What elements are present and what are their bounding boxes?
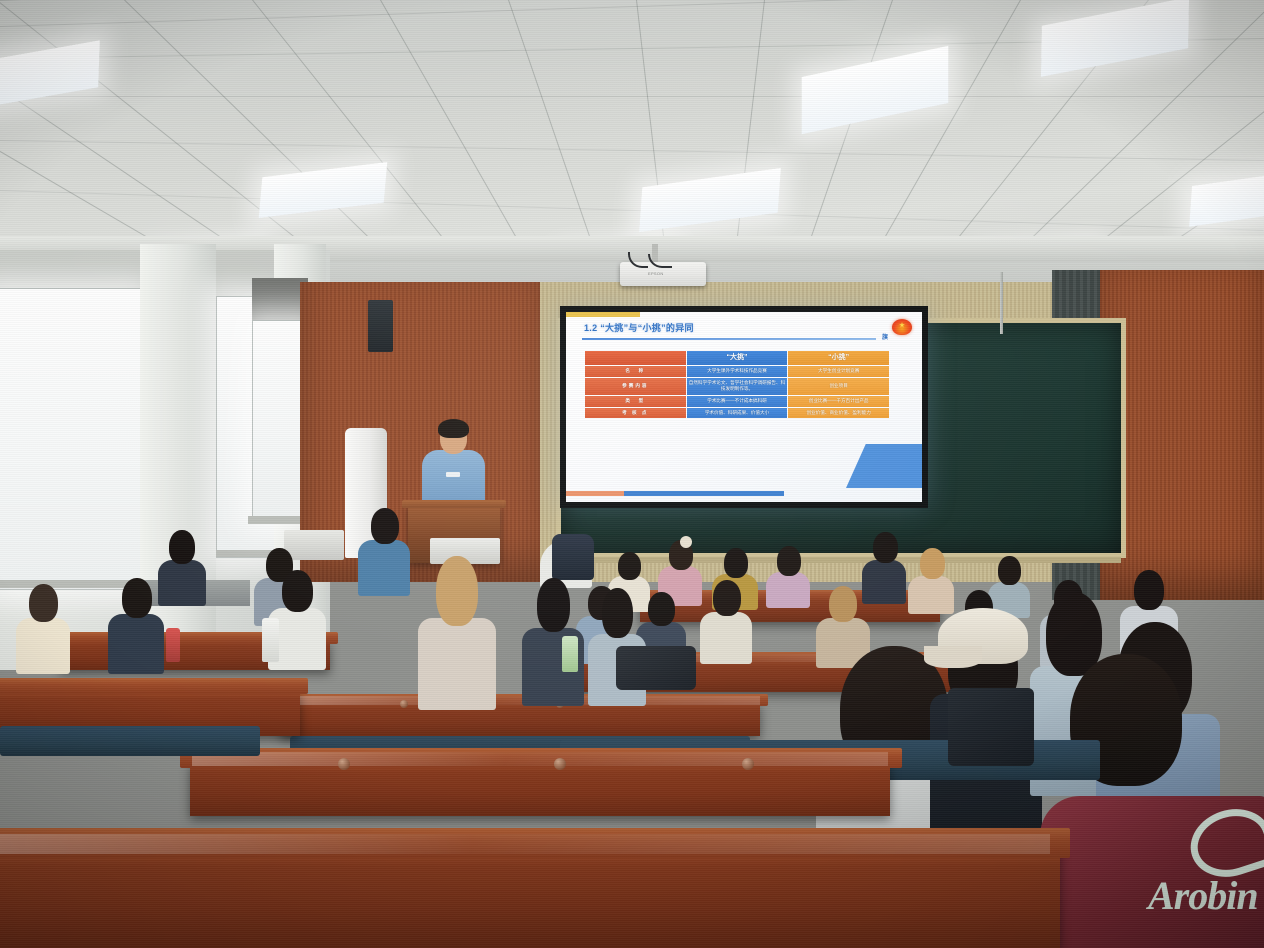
slide-title-underline bbox=[582, 338, 876, 340]
youth-league-emblem-icon bbox=[892, 319, 912, 335]
slide-comparison-table: “大挑” “小挑” 名 称 大学生课外学术科技作品竞赛 大学生创业计划竞赛 参赛… bbox=[584, 350, 890, 419]
student bbox=[908, 548, 954, 608]
student bbox=[358, 508, 410, 592]
projection-screen: 1.2 “大挑”与“小挑”的异同 旗 “大挑” “小挑” 名 称 大学生课外学术… bbox=[560, 306, 928, 508]
table-row: 考 核 点 学术价值、科研成果、价值大小 创业价值、商业价值、盈利能力 bbox=[585, 408, 889, 419]
ceiling-light-panel bbox=[802, 46, 949, 134]
student-hair-tie bbox=[680, 536, 692, 548]
slide-title: 1.2 “大挑”与“小挑”的异同 bbox=[584, 321, 694, 334]
student-torso bbox=[358, 540, 410, 596]
ceiling-light-panel bbox=[639, 168, 781, 232]
row-small-2: 创业比赛——千方百计出产品 bbox=[788, 396, 889, 407]
ceiling-light-panel bbox=[0, 40, 100, 110]
water-bottle-red bbox=[166, 628, 180, 662]
table-row: 类 型 学术比赛——不计成本搞科研 创业比赛——千方百计出产品 bbox=[585, 396, 889, 407]
student bbox=[108, 578, 164, 670]
row-big-0: 大学生课外学术科技作品竞赛 bbox=[687, 366, 788, 377]
desk-knob bbox=[554, 758, 566, 770]
student-torso bbox=[700, 612, 752, 664]
row-small-0: 大学生创业计划竞赛 bbox=[788, 366, 889, 377]
student bbox=[766, 546, 810, 604]
desk-row-5 bbox=[0, 848, 1060, 948]
ceiling-tile-line bbox=[0, 0, 1263, 1]
presenter-chest-logo bbox=[446, 472, 460, 477]
slide-logo-mark: 旗 bbox=[882, 332, 888, 341]
water-bottle-green bbox=[562, 636, 578, 672]
bench-left-row-2 bbox=[0, 726, 260, 756]
presentation-slide: 1.2 “大挑”与“小挑”的异同 旗 “大挑” “小挑” 名 称 大学生课外学术… bbox=[566, 312, 922, 502]
student-torso bbox=[418, 618, 496, 710]
water-bottle-white bbox=[262, 618, 279, 662]
desk-top-row-5 bbox=[0, 828, 1070, 858]
student-head bbox=[282, 570, 313, 612]
row-label-3: 考 核 点 bbox=[585, 408, 686, 419]
row-label-1: 参赛内容 bbox=[585, 378, 686, 395]
ceiling-tile-line bbox=[0, 140, 1264, 161]
ceiling-tile-line bbox=[0, 96, 1264, 97]
student-head bbox=[436, 556, 478, 626]
row-small-3: 创业价值、商业价值、盈利能力 bbox=[788, 408, 889, 419]
student-head bbox=[777, 546, 801, 576]
window-1 bbox=[0, 288, 142, 590]
student-head bbox=[29, 584, 58, 622]
ceiling-light-panel bbox=[259, 162, 388, 218]
draped-jacket bbox=[552, 534, 594, 580]
student-head bbox=[537, 578, 570, 632]
ceiling-light-panel bbox=[1189, 169, 1264, 226]
student-head bbox=[648, 592, 675, 626]
student-head bbox=[602, 588, 633, 638]
student-torso bbox=[108, 614, 164, 674]
presenter-hair bbox=[438, 419, 469, 438]
student-head bbox=[1134, 570, 1164, 610]
student-torso bbox=[158, 560, 206, 606]
maroon-jacket-text: Arobin bbox=[1148, 872, 1258, 919]
desk-row-3 bbox=[280, 702, 760, 736]
header-cell-blank bbox=[585, 351, 686, 365]
row-big-2: 学术比赛——不计成本搞科研 bbox=[687, 396, 788, 407]
row-label-2: 类 型 bbox=[585, 396, 686, 407]
student-head bbox=[829, 586, 857, 622]
table-row: 参赛内容 自然科学学术论文、哲学社会科学调研报告、科技发明制作等。 创业项目 bbox=[585, 378, 889, 395]
student-torso bbox=[766, 572, 810, 608]
backpack bbox=[616, 646, 696, 690]
table-header-row: “大挑” “小挑” bbox=[585, 351, 889, 365]
slide-top-accent-bar bbox=[566, 312, 640, 317]
row-small-1: 创业项目 bbox=[788, 378, 889, 395]
header-cell-small: “小挑” bbox=[788, 351, 889, 365]
desk-knob bbox=[400, 700, 408, 708]
student-head bbox=[998, 556, 1021, 585]
student-head bbox=[724, 548, 748, 578]
row-big-3: 学术价值、科研成果、价值大小 bbox=[687, 408, 788, 419]
projector-brand-label: EPSON bbox=[648, 271, 664, 276]
student bbox=[418, 556, 496, 706]
student-head bbox=[920, 548, 945, 579]
student-head bbox=[371, 508, 399, 544]
ceiling-light-panel bbox=[1041, 0, 1189, 77]
desk-row-4 bbox=[190, 762, 890, 816]
window-blind-1 bbox=[0, 250, 140, 290]
slide-corner-shape bbox=[846, 444, 922, 488]
table-row: 名 称 大学生课外学术科技作品竞赛 大学生创业计划竞赛 bbox=[585, 366, 889, 377]
desk-top-left-row-2 bbox=[0, 678, 308, 694]
student-torso bbox=[16, 618, 70, 674]
lecture-hall-photo: EPSON 1.2 “大挑”与“小挑”的异同 旗 “大挑” “小挑” 名 称 大… bbox=[0, 0, 1264, 948]
header-cell-big: “大挑” bbox=[687, 351, 788, 365]
slide-footer-accent-orange bbox=[566, 491, 624, 496]
student-head bbox=[618, 552, 641, 580]
wall-speaker bbox=[368, 300, 393, 352]
student-head bbox=[122, 578, 152, 618]
row-big-1: 自然科学学术论文、哲学社会科学调研报告、科技发明制作等。 bbox=[687, 378, 788, 395]
student-head bbox=[169, 530, 195, 564]
desk-knob bbox=[338, 758, 350, 770]
student bbox=[700, 580, 752, 660]
cap-brim bbox=[924, 646, 982, 668]
podium-top-surface bbox=[402, 500, 506, 508]
student bbox=[16, 584, 70, 670]
desk-top-row-4 bbox=[180, 748, 902, 768]
backpack bbox=[948, 688, 1034, 766]
student bbox=[158, 530, 206, 602]
student-head bbox=[713, 580, 741, 616]
slide-footer-accent-blue bbox=[624, 491, 784, 496]
student-torso bbox=[908, 576, 954, 614]
row-label-0: 名 称 bbox=[585, 366, 686, 377]
desk-top-row-3 bbox=[274, 694, 768, 706]
microphone-stand bbox=[1000, 272, 1003, 334]
desk-knob bbox=[742, 758, 754, 770]
student-head bbox=[873, 532, 898, 563]
